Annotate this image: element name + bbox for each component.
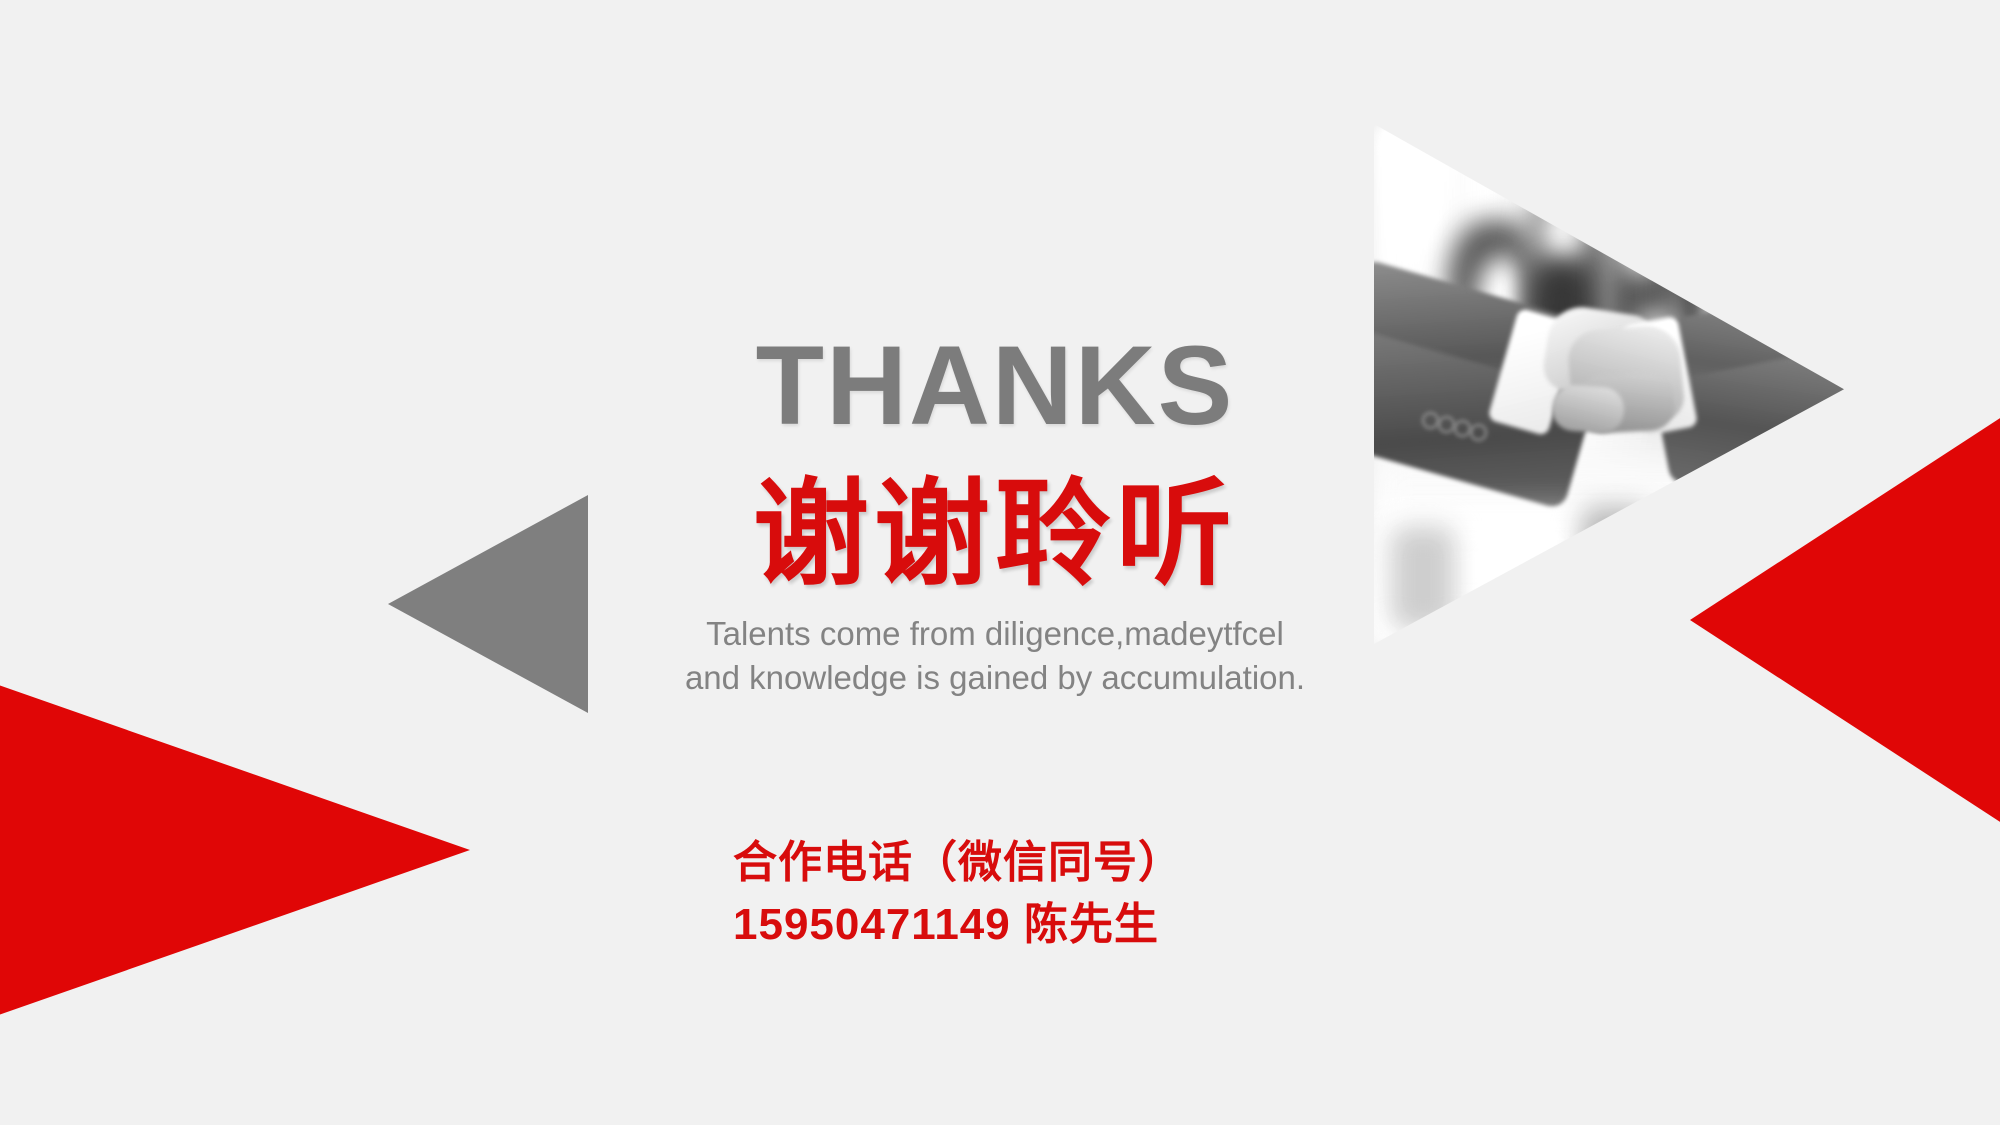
contact-label: 合作电话（微信同号） [733,832,1183,894]
subtitle: Talents come from diligence,madeytfcel a… [600,612,1390,700]
gray-triangle-shape [388,495,588,713]
subtitle-line-2: and knowledge is gained by accumulation. [600,656,1390,700]
page-title-chinese: 谢谢聆听 [600,476,1390,592]
red-triangle-left-shape [0,570,470,1125]
thanks-slide: THANKS 谢谢聆听 Talents come from diligence,… [0,0,2000,1125]
subtitle-line-1: Talents come from diligence,madeytfcel [600,612,1390,656]
contact-block: 合作电话（微信同号） 15950471149 陈先生 [733,832,1183,955]
contact-phone: 15950471149 陈先生 [733,894,1183,956]
main-text-block: THANKS 谢谢聆听 Talents come from diligence,… [600,330,1390,700]
page-title: THANKS [600,330,1390,442]
